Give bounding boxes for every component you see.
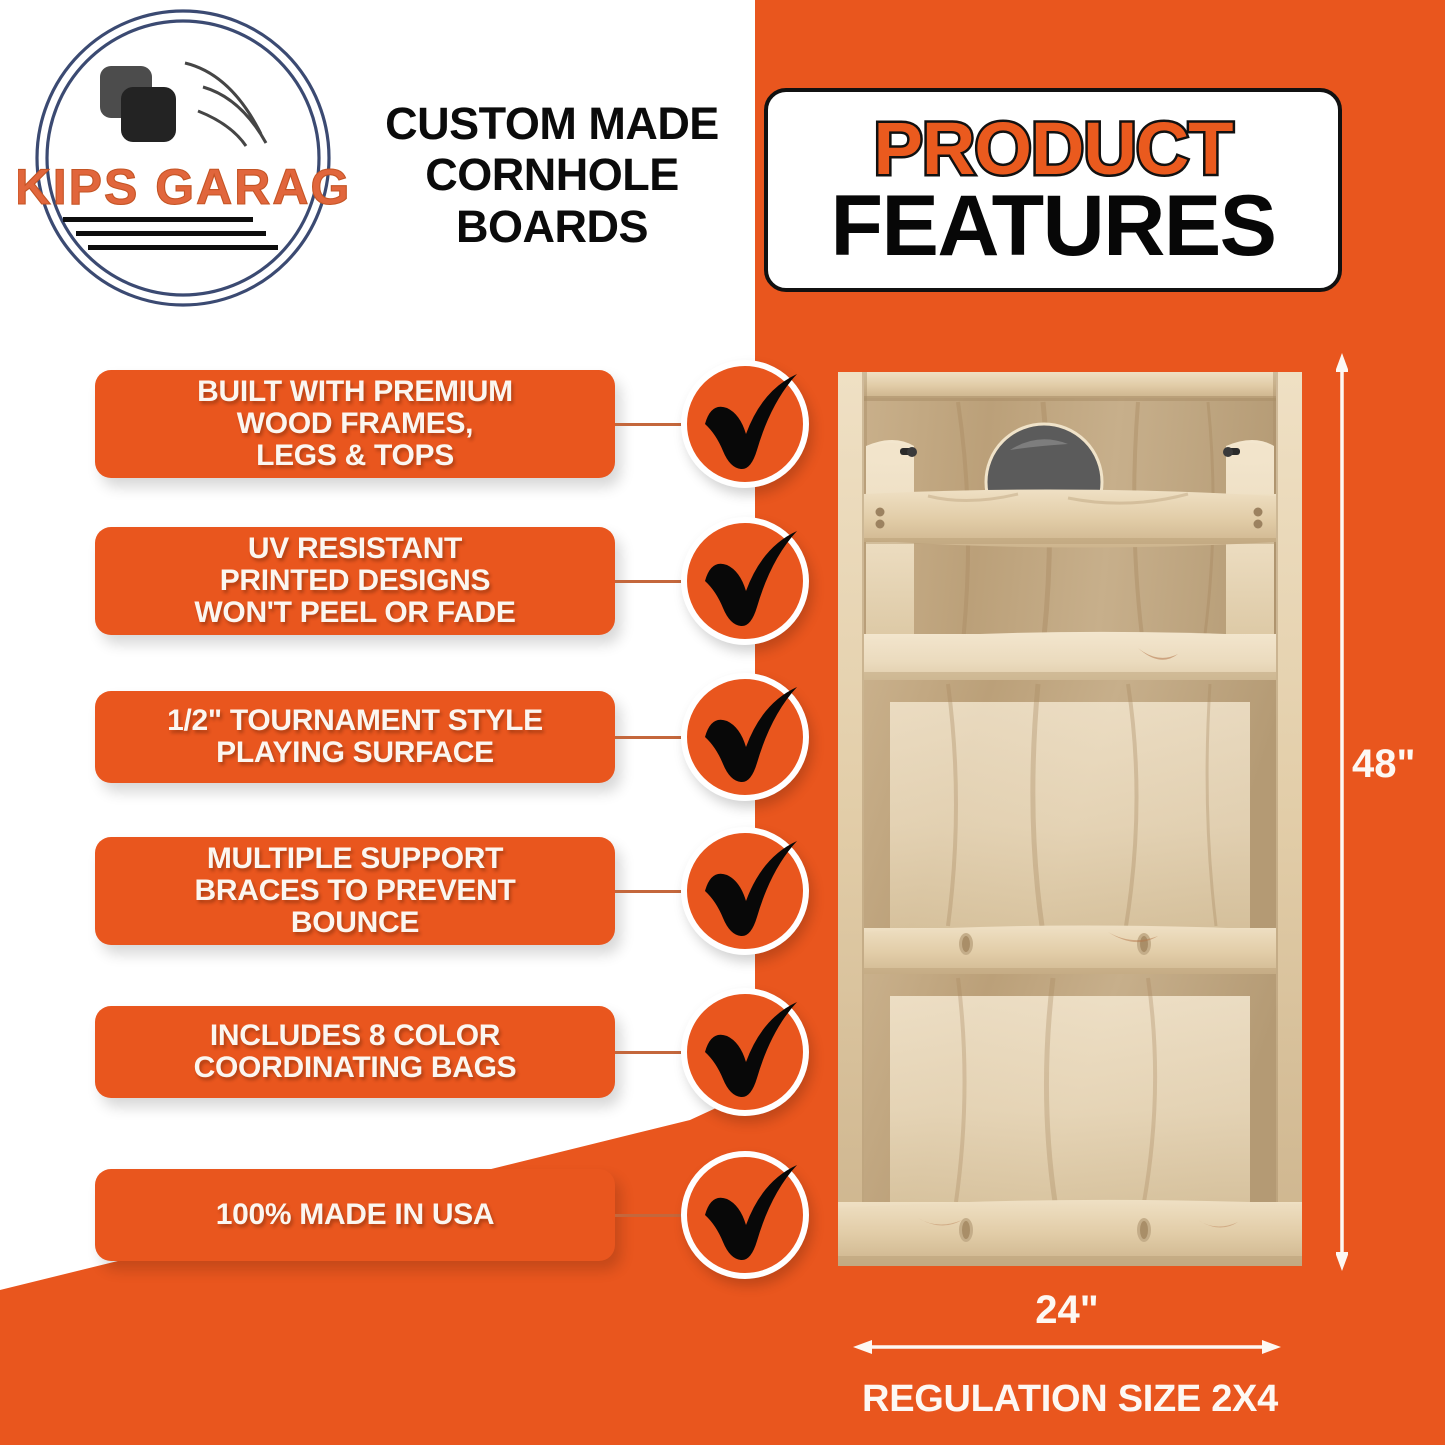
feature-pill: INCLUDES 8 COLOR COORDINATING BAGS (95, 1006, 615, 1098)
feature-check-badge (681, 360, 809, 488)
feature-check-badge (681, 1151, 809, 1279)
page-title-line-3: BOARDS (352, 201, 752, 252)
feature-label: 100% MADE IN USA (216, 1199, 495, 1231)
cornhole-board-photo (838, 372, 1302, 1266)
svg-text:SKIPS GARAGE: SKIPS GARAGE (18, 159, 348, 215)
height-dimension-arrow (1336, 352, 1348, 1272)
page-title-line-1: CUSTOM MADE (352, 98, 752, 149)
feature-check-badge (681, 517, 809, 645)
product-features-banner: PRODUCT FEATURES (764, 88, 1342, 292)
checkmark-icon (683, 356, 813, 486)
checkmark-icon (683, 669, 813, 799)
feature-connector-line (615, 890, 681, 893)
feature-connector-line (615, 736, 681, 739)
feature-pill: BUILT WITH PREMIUM WOOD FRAMES, LEGS & T… (95, 370, 615, 478)
skips-garage-logo: SKIPS GARAGE (18, 8, 348, 308)
infographic-canvas: SKIPS GARAGE CUSTOM MADE CORNHOLE BOARDS… (0, 0, 1445, 1445)
feature-pill: 1/2" TOURNAMENT STYLE PLAYING SURFACE (95, 691, 615, 783)
feature-label: 1/2" TOURNAMENT STYLE PLAYING SURFACE (167, 705, 543, 769)
feature-pill: UV RESISTANT PRINTED DESIGNS WON'T PEEL … (95, 527, 615, 635)
width-dimension-arrow (852, 1340, 1282, 1354)
feature-pill: MULTIPLE SUPPORT BRACES TO PREVENT BOUNC… (95, 837, 615, 945)
checkmark-icon (683, 1147, 813, 1277)
feature-connector-line (615, 1051, 681, 1054)
feature-connector-line (615, 423, 681, 426)
regulation-size-label: REGULATION SIZE 2X4 (835, 1378, 1305, 1421)
feature-label: UV RESISTANT PRINTED DESIGNS WON'T PEEL … (194, 533, 515, 628)
banner-word-features: FEATURES (830, 186, 1275, 268)
page-title-line-2: CORNHOLE (352, 149, 752, 200)
feature-label: MULTIPLE SUPPORT BRACES TO PREVENT BOUNC… (194, 843, 515, 938)
banner-word-product: PRODUCT (874, 113, 1233, 184)
feature-check-badge (681, 988, 809, 1116)
feature-label: BUILT WITH PREMIUM WOOD FRAMES, LEGS & T… (197, 376, 513, 471)
feature-connector-line (615, 580, 681, 583)
feature-pill: 100% MADE IN USA (95, 1169, 615, 1261)
feature-connector-line (615, 1214, 681, 1217)
page-title: CUSTOM MADE CORNHOLE BOARDS (352, 98, 752, 252)
feature-check-badge (681, 827, 809, 955)
height-dimension-label: 48" (1352, 742, 1415, 787)
feature-check-badge (681, 673, 809, 801)
checkmark-icon (683, 984, 813, 1114)
feature-label: INCLUDES 8 COLOR COORDINATING BAGS (194, 1020, 517, 1084)
checkmark-icon (683, 513, 813, 643)
checkmark-icon (683, 823, 813, 953)
width-dimension-label: 24" (852, 1288, 1282, 1333)
